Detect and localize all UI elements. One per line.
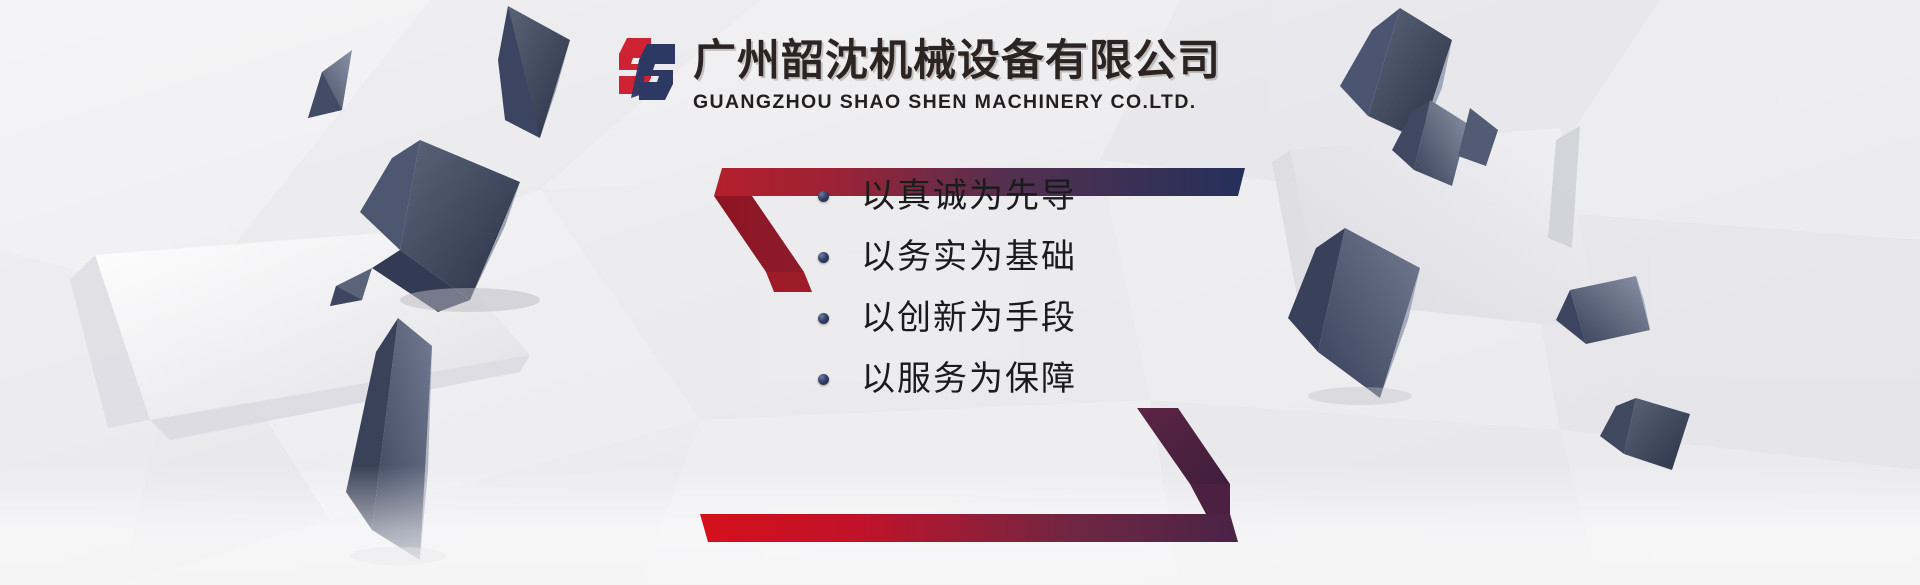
list-item: 以真诚为先导 [818,176,1077,216]
brand-text-block: 广州韶沈机械设备有限公司 GUANGZHOU SHAO SHEN MACHINE… [693,36,1221,114]
slogan-text: 以服务为保障 [861,359,1077,399]
list-item: 以服务为保障 [818,359,1077,399]
round-bullet-icon [818,252,829,263]
company-name-en: GUANGZHOU SHAO SHEN MACHINERY CO.LTD. [693,90,1221,114]
slogan-text: 以真诚为先导 [861,176,1077,216]
ss-monogram-logo-icon [617,36,679,108]
round-bullet-icon [818,374,829,385]
round-bullet-icon [818,191,829,202]
list-item: 以务实为基础 [818,237,1077,277]
slogan-text: 以务实为基础 [861,237,1077,277]
bracket-bottom-arrow-icon [700,408,1245,543]
brand-lockup: 广州韶沈机械设备有限公司 GUANGZHOU SHAO SHEN MACHINE… [617,36,1221,114]
company-name-cn: 广州韶沈机械设备有限公司 [693,36,1221,86]
list-item: 以创新为手段 [818,298,1077,338]
round-bullet-icon [818,313,829,324]
slogan-list: 以真诚为先导 以务实为基础 以创新为手段 以服务为保障 [818,176,1077,399]
slogan-text: 以创新为手段 [861,298,1077,338]
company-banner: 广州韶沈机械设备有限公司 GUANGZHOU SHAO SHEN MACHINE… [0,0,1920,585]
